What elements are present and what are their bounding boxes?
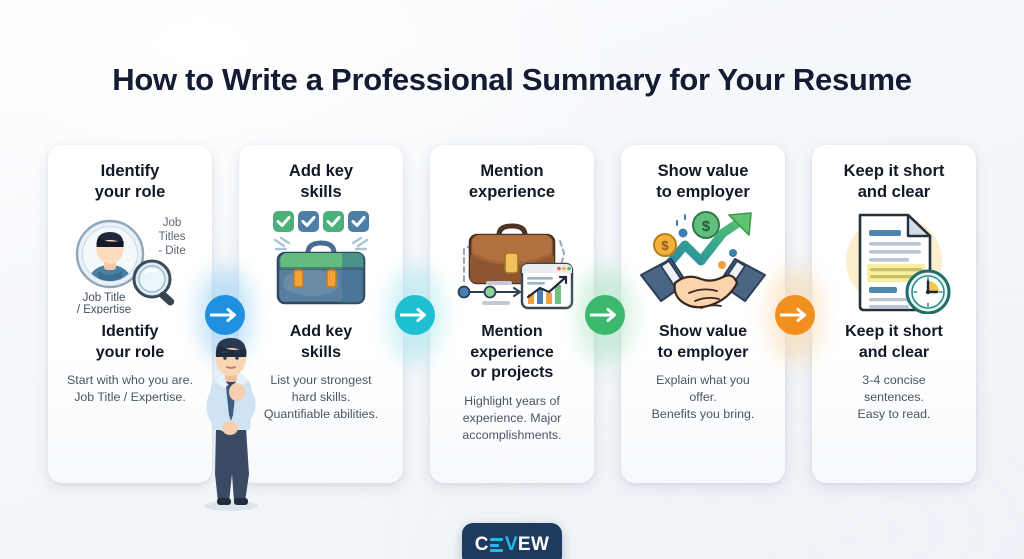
handshake-growth-icon: $ $ <box>633 209 773 314</box>
card-desc-line3: Quantifiable abilities. <box>264 407 378 421</box>
card-description: Highlight years of experience. Major acc… <box>462 393 561 444</box>
briefcase-chart-icon <box>442 209 582 314</box>
person-magnifier-icon: Job Titles - Dite Job Title / Expertise <box>60 209 200 314</box>
card-heading-line1: Keep it short <box>844 162 945 180</box>
card-subheading-line3: or projects <box>471 364 554 381</box>
card-subheading-line2: and clear <box>859 344 929 361</box>
document-clock-icon <box>824 209 964 314</box>
arrow-connector-2 <box>393 293 437 337</box>
svg-text:$: $ <box>661 238 669 253</box>
card-desc-line2: hard skills. <box>292 390 351 404</box>
svg-text:$: $ <box>702 218 711 235</box>
logo-letters-ew: EW <box>518 534 549 556</box>
card-subheading-line1: Mention <box>481 323 542 340</box>
arrow-connector-3 <box>583 293 627 337</box>
card-subheading-line1: Identify <box>102 323 159 340</box>
icon-side-label-line3: - Dite <box>158 245 185 257</box>
arrow-disc <box>205 295 245 335</box>
logo-letter-v: V <box>505 534 518 556</box>
card-desc-line3: Easy to read. <box>857 407 930 421</box>
card-heading: Show value to employer <box>656 161 750 203</box>
card-identify-your-role[interactable]: Identify your role <box>48 145 212 483</box>
card-heading: Add key skills <box>289 161 353 203</box>
card-heading-line1: Add key <box>289 162 353 180</box>
thinking-businessman-illustration <box>190 332 272 512</box>
card-subheading-line1: Add key <box>290 323 352 340</box>
card-heading-line1: Identify <box>101 162 160 180</box>
card-desc-line3: accomplishments. <box>462 428 561 442</box>
card-desc-line3: Benefits you bring. <box>652 407 755 421</box>
card-desc-line1: Explain what you <box>656 373 750 387</box>
card-desc-line2: offer. <box>689 390 716 404</box>
card-desc-line2: sentences. <box>864 390 924 404</box>
card-subheading-line2: your role <box>96 344 164 361</box>
card-desc-line1: Start with who you are. <box>67 373 193 387</box>
page-title: How to Write a Professional Summary for … <box>0 62 1024 98</box>
card-subheading-line2: to employer <box>658 344 749 361</box>
card-subheading: Show value to employer <box>658 322 749 363</box>
card-desc-line2: experience. Major <box>463 411 561 425</box>
card-description: List your strongest hard skills. Quantif… <box>264 372 378 423</box>
card-subheading-line2: experience <box>470 344 554 361</box>
arrow-disc <box>585 295 625 335</box>
card-mention-experience[interactable]: Mention experience <box>430 145 594 483</box>
arrow-connector-1 <box>203 293 247 337</box>
card-subheading: Keep it short and clear <box>845 322 943 363</box>
card-heading-line2: to employer <box>656 183 750 201</box>
card-heading-line1: Mention <box>480 162 543 180</box>
card-subheading-line1: Keep it short <box>845 323 943 340</box>
icon-bottom-label-line2: / Expertise <box>77 304 131 314</box>
card-desc-line2: Job Title / Expertise. <box>74 390 186 404</box>
toolbox-checkmarks-icon <box>251 209 391 314</box>
card-heading-line2: skills <box>300 183 341 201</box>
card-subheading-line1: Show value <box>659 323 747 340</box>
card-desc-line1: List your strongest <box>270 373 371 387</box>
card-subheading: Identify your role <box>96 322 164 363</box>
card-desc-line1: 3-4 concise <box>862 373 925 387</box>
card-heading: Identify your role <box>95 161 166 203</box>
card-heading: Mention experience <box>469 161 555 203</box>
card-heading-line2: and clear <box>858 183 930 201</box>
icon-bottom-label-line1: Job Title <box>83 292 126 304</box>
logo-text: C V EW <box>475 534 550 556</box>
arrow-disc <box>395 295 435 335</box>
card-heading-line2: experience <box>469 183 555 201</box>
icon-side-label-line1: Job <box>163 217 182 229</box>
logo-letter-c: C <box>475 534 489 556</box>
card-description: Explain what you offer. Benefits you bri… <box>652 372 755 423</box>
card-keep-it-short-and-clear[interactable]: Keep it short and clear <box>812 145 976 483</box>
card-subheading: Mention experience or projects <box>470 322 554 383</box>
card-show-value-to-employer[interactable]: Show value to employer $ $ <box>621 145 785 483</box>
logo-letter-e-icon <box>490 538 503 552</box>
card-heading-line1: Show value <box>658 162 749 180</box>
card-subheading-line2: skills <box>301 344 341 361</box>
card-row: Identify your role <box>48 145 976 483</box>
card-description: Start with who you are. Job Title / Expe… <box>67 372 193 406</box>
icon-side-label-line2: Titles <box>158 231 185 243</box>
arrow-connector-4 <box>773 293 817 337</box>
card-heading-line2: your role <box>95 183 166 201</box>
card-description: 3-4 concise sentences. Easy to read. <box>857 372 930 423</box>
card-heading: Keep it short and clear <box>844 161 945 203</box>
card-subheading: Add key skills <box>290 322 352 363</box>
card-desc-line1: Highlight years of <box>464 394 560 408</box>
arrow-disc <box>775 295 815 335</box>
cevew-logo[interactable]: C V EW <box>462 523 562 559</box>
